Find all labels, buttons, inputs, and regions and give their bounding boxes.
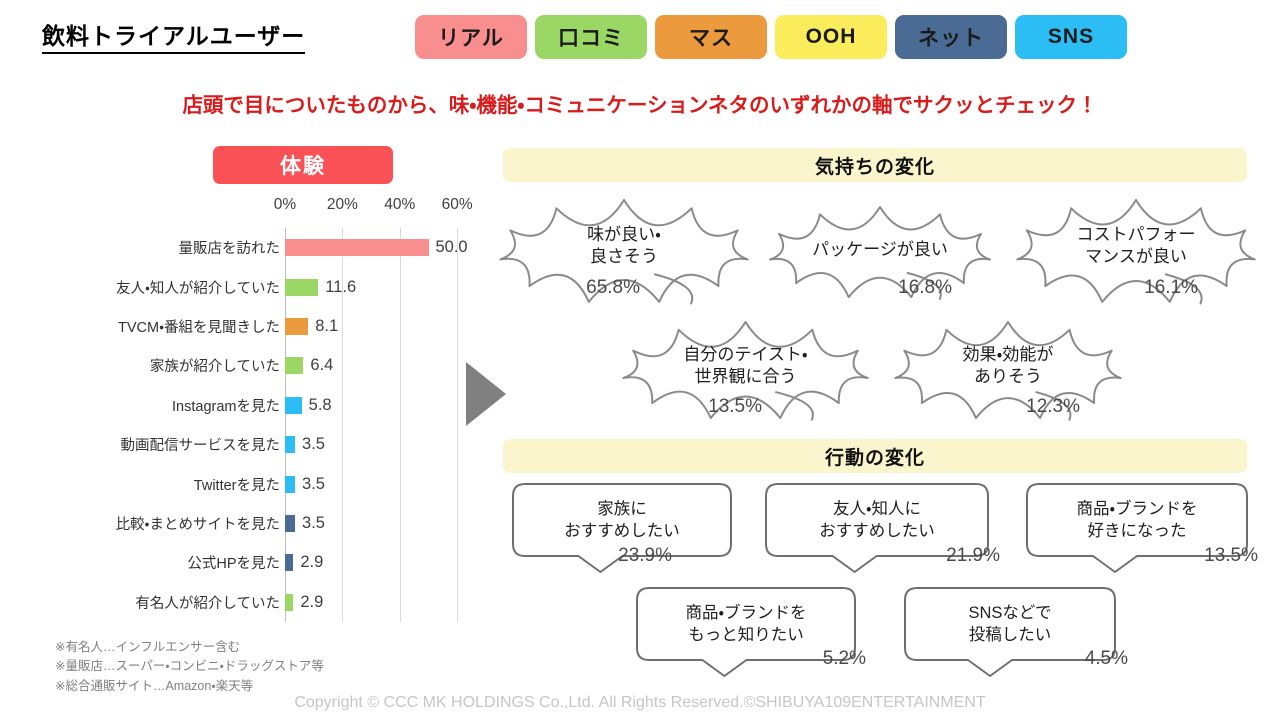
mood-cloud-percent: 12.3%: [1026, 396, 1080, 418]
action-bubble-percent: 5.2%: [823, 648, 866, 670]
channel-tag-0[interactable]: リアル: [415, 15, 527, 59]
mood-cloud: パッケージが良い: [765, 203, 995, 303]
bar-value-label: 5.8: [309, 396, 332, 415]
bar-segment: [285, 515, 295, 532]
bar-row: Instagramを見た5.8: [0, 386, 500, 425]
chart-title-badge: 体験: [213, 146, 393, 184]
action-bubble-percent: 13.5%: [1204, 545, 1258, 567]
action-bubble: SNSなどで投稿したい: [905, 588, 1115, 676]
bar-row: 有名人が紹介していた2.9: [0, 583, 500, 622]
bar-segment: [285, 279, 318, 296]
bar-category-label: 友人・知人が紹介していた: [116, 277, 280, 298]
bar-category-label: Twitterを見た: [194, 474, 280, 495]
bar-row: 動画配信サービスを見た3.5: [0, 425, 500, 464]
bar-value-label: 2.9: [300, 553, 323, 572]
bar-category-label: 比較・まとめサイトを見た: [116, 513, 280, 534]
bar-segment: [285, 239, 429, 256]
bar-segment: [285, 318, 308, 335]
action-bubble-percent: 21.9%: [946, 545, 1000, 567]
channel-tag-5[interactable]: SNS: [1015, 15, 1127, 59]
action-bubble-percent: 23.9%: [618, 545, 672, 567]
bar-row: TVCM・番組を見聞きした8.1: [0, 307, 500, 346]
bar-category-label: 動画配信サービスを見た: [121, 434, 281, 455]
channel-tag-bar: リアル口コミマスOOHネットSNS: [415, 15, 1127, 59]
bar-segment: [285, 436, 295, 453]
slide-subtitle: 店頭で目についたものから、味・機能・コミュニケーションネタのいずれかの軸でサクッ…: [0, 88, 1280, 118]
mood-cloud: コストパフォーマンスが良い: [1012, 196, 1260, 308]
channel-tag-4[interactable]: ネット: [895, 15, 1007, 59]
action-bubble-percent: 4.5%: [1085, 648, 1128, 670]
copyright-footer: Copyright © CCC MK HOLDINGS Co.,Ltd. All…: [0, 694, 1280, 712]
channel-tag-1[interactable]: 口コミ: [535, 15, 647, 59]
bar-chart-plot: 量販店を訪れた50.0友人・知人が紹介していた11.6TVCM・番組を見聞きした…: [0, 228, 500, 622]
bar-segment: [285, 594, 293, 611]
bar-value-label: 8.1: [315, 317, 338, 336]
bar-category-label: 有名人が紹介していた: [135, 592, 280, 613]
x-axis-tick-0: 0%: [274, 196, 296, 214]
bar-category-label: Instagramを見た: [172, 395, 280, 416]
bar-row: 比較・まとめサイトを見た3.5: [0, 504, 500, 543]
bar-segment: [285, 476, 295, 493]
bar-value-label: 11.6: [325, 278, 356, 297]
bar-value-label: 3.5: [302, 475, 325, 494]
channel-tag-label: ネット: [918, 22, 984, 52]
slide-root: 飲料トライアルユーザー リアル口コミマスOOHネットSNS 店頭で目についたもの…: [0, 0, 1280, 720]
x-axis-tick-1: 20%: [327, 196, 358, 214]
mood-cloud: 効果・効能がありそう: [890, 318, 1126, 424]
section-header-action: 行動の変化: [503, 439, 1247, 473]
footnote-line: ※有名人…インフルエンサー含む: [55, 638, 324, 657]
bar-value-label: 3.5: [302, 435, 325, 454]
mood-cloud-percent: 16.1%: [1144, 277, 1198, 299]
mood-cloud-percent: 13.5%: [708, 396, 762, 418]
bar-row: 家族が紹介していた6.4: [0, 346, 500, 385]
bar-category-label: 量販店を訪れた: [179, 237, 281, 258]
channel-tag-label: OOH: [806, 25, 857, 49]
bar-category-label: 家族が紹介していた: [150, 355, 280, 376]
bar-row: 量販店を訪れた50.0: [0, 228, 500, 267]
channel-tag-label: マス: [689, 22, 733, 52]
x-axis-tick-3: 60%: [442, 196, 473, 214]
channel-tag-2[interactable]: マス: [655, 15, 767, 59]
bar-value-label: 3.5: [302, 514, 325, 533]
mood-cloud-percent: 16.8%: [898, 277, 952, 299]
x-axis-tick-2: 40%: [384, 196, 415, 214]
bar-segment: [285, 357, 303, 374]
bar-row: 公式HPを見た2.9: [0, 543, 500, 582]
footnote-line: ※量販店…スーパー・コンビニ・ドラッグストア等: [55, 657, 324, 676]
section-header-mood: 気持ちの変化: [503, 148, 1247, 182]
bar-row: Twitterを見た3.5: [0, 464, 500, 503]
channel-tag-3[interactable]: OOH: [775, 15, 887, 59]
channel-tag-label: SNS: [1048, 25, 1094, 49]
channel-tag-label: リアル: [438, 22, 504, 52]
chart-footnotes: ※有名人…インフルエンサー含む※量販店…スーパー・コンビニ・ドラッグストア等※総…: [55, 638, 324, 696]
bar-row: 友人・知人が紹介していた11.6: [0, 267, 500, 306]
flow-arrow-icon: [466, 362, 506, 426]
bar-segment: [285, 554, 293, 571]
chart-x-axis: 0%20%40%60%: [0, 196, 500, 216]
channel-tag-label: 口コミ: [558, 22, 624, 52]
bar-value-label: 6.4: [310, 356, 333, 375]
bar-category-label: 公式HPを見た: [187, 552, 280, 573]
bar-value-label: 50.0: [436, 238, 468, 257]
bar-category-label: TVCM・番組を見聞きした: [118, 316, 280, 337]
bar-segment: [285, 397, 302, 414]
page-title: 飲料トライアルユーザー: [42, 24, 305, 54]
mood-cloud-percent: 65.8%: [586, 277, 640, 299]
bar-value-label: 2.9: [300, 593, 323, 612]
